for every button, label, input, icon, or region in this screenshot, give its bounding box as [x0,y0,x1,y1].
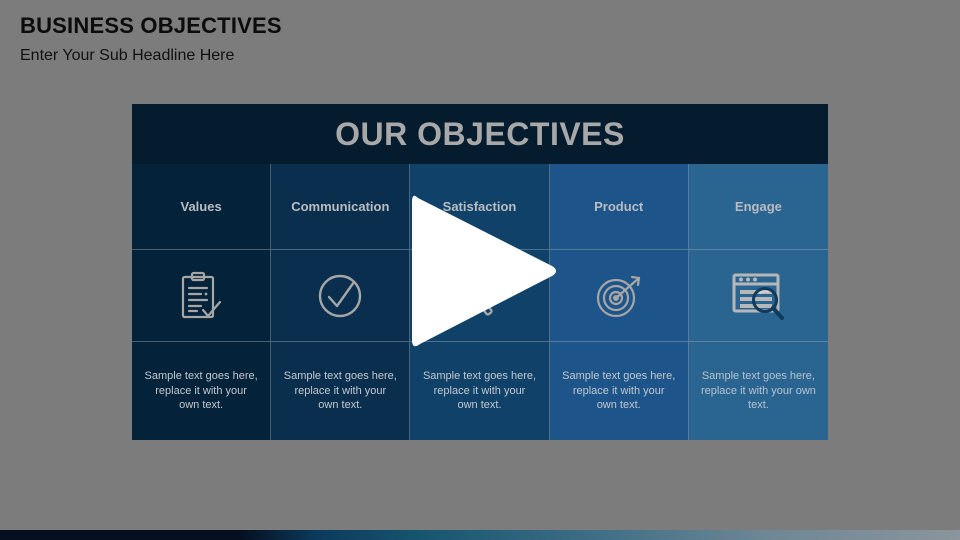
column-header-communication[interactable]: Communication [271,164,410,250]
description-text: Sample text goes here, replace it with y… [550,369,688,414]
page-title: BUSINESS OBJECTIVES [20,13,720,39]
column-header-label: Values [175,199,228,215]
icon-cell-engage[interactable] [689,250,828,342]
play-triangle-icon [406,188,558,354]
description-text: Sample text goes here, replace it with y… [132,369,270,414]
page-subtitle: Enter Your Sub Headline Here [20,46,720,65]
description-cell-product[interactable]: Sample text goes here, replace it with y… [550,342,689,440]
column-header-label: Communication [285,199,395,215]
play-button[interactable] [406,188,558,354]
icon-cell-values[interactable] [132,250,271,342]
bottom-progress-bar[interactable] [0,530,960,540]
description-cell-satisfaction[interactable]: Sample text goes here, replace it with y… [410,342,549,440]
target-arrow-icon [590,267,648,325]
column-header-engage[interactable]: Engage [689,164,828,250]
column-header-label: Engage [729,199,788,215]
description-cell-engage[interactable]: Sample text goes here, replace it with y… [689,342,828,440]
column-header-values[interactable]: Values [132,164,271,250]
circle-check-icon [311,267,369,325]
column-description-row: Sample text goes here, replace it with y… [132,342,828,440]
description-text: Sample text goes here, replace it with y… [271,369,409,414]
description-text: Sample text goes here, replace it with y… [410,369,548,414]
clipboard-check-icon [172,267,230,325]
column-header-product[interactable]: Product [550,164,689,250]
icon-cell-product[interactable] [550,250,689,342]
banner-title: OUR OBJECTIVES [335,118,625,150]
description-cell-values[interactable]: Sample text goes here, replace it with y… [132,342,271,440]
column-header-label: Product [588,199,649,215]
description-text: Sample text goes here, replace it with y… [689,369,828,414]
browser-search-icon [729,267,787,325]
icon-cell-communication[interactable] [271,250,410,342]
objectives-banner: OUR OBJECTIVES [132,104,828,164]
description-cell-communication[interactable]: Sample text goes here, replace it with y… [271,342,410,440]
slide-header: BUSINESS OBJECTIVES Enter Your Sub Headl… [20,13,720,66]
slide-canvas: { "header": { "title": "BUSINESS OBJECTI… [0,0,960,540]
